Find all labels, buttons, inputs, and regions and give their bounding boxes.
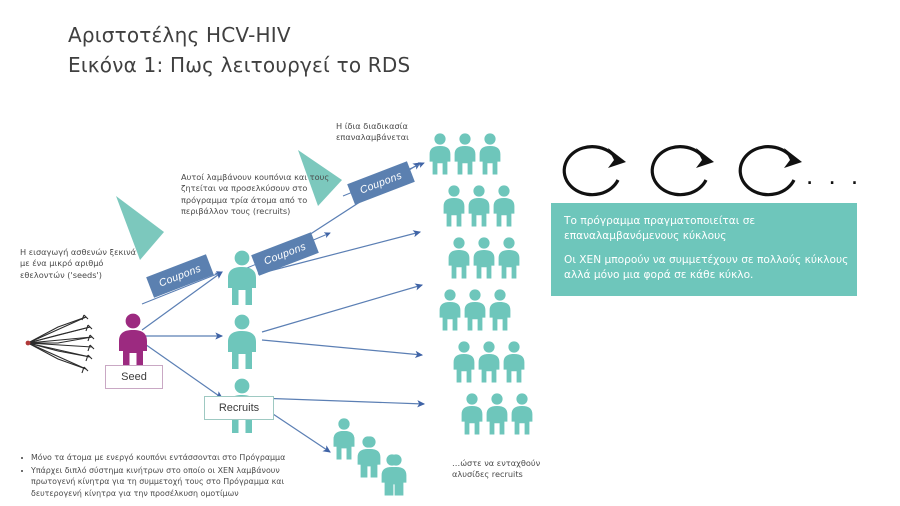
callout-paragraph-2: Οι ΧΕΝ μπορούν να συμμετέχουν σε πολλούς… [564, 253, 852, 282]
cycle-ellipsis: . . . [806, 160, 862, 191]
note-seed: Η εισαγωγή ασθενών ξεκινά με ένα μικρό α… [20, 247, 148, 281]
bottom-chain-figures [328, 418, 438, 502]
bullet-item: Μόνο τα άτομα με ενεργό κουπόνι εντάσσον… [18, 452, 318, 464]
callout-paragraph-1: Το πρόγραμμα πραγματοποιείται σε επαναλα… [564, 214, 848, 243]
recruits-label: Recruits [204, 396, 274, 420]
seed-label: Seed [105, 365, 163, 389]
seed-person-icon [113, 313, 153, 369]
cycle-arrow-icons [556, 136, 806, 202]
third-generation-figures [426, 133, 546, 463]
bullet-list: Μόνο τα άτομα με ενεργό κουπόνι εντάσσον… [18, 452, 318, 500]
seed-network-icon [24, 305, 104, 380]
recruit-person-icon-2 [222, 314, 262, 370]
note-coupon: Αυτοί λαμβάνουν κουπόνια και τους ζητείτ… [181, 172, 349, 218]
slide-canvas: Αριστοτέλης HCV-HIV Εικόνα 1: Πως λειτου… [0, 0, 900, 506]
bullet-item: Υπάρχει διπλό σύστημα κινήτρων στο οποίο… [18, 465, 318, 500]
callout-box: Το πρόγραμμα πραγματοποιείται σε επαναλα… [551, 203, 857, 296]
